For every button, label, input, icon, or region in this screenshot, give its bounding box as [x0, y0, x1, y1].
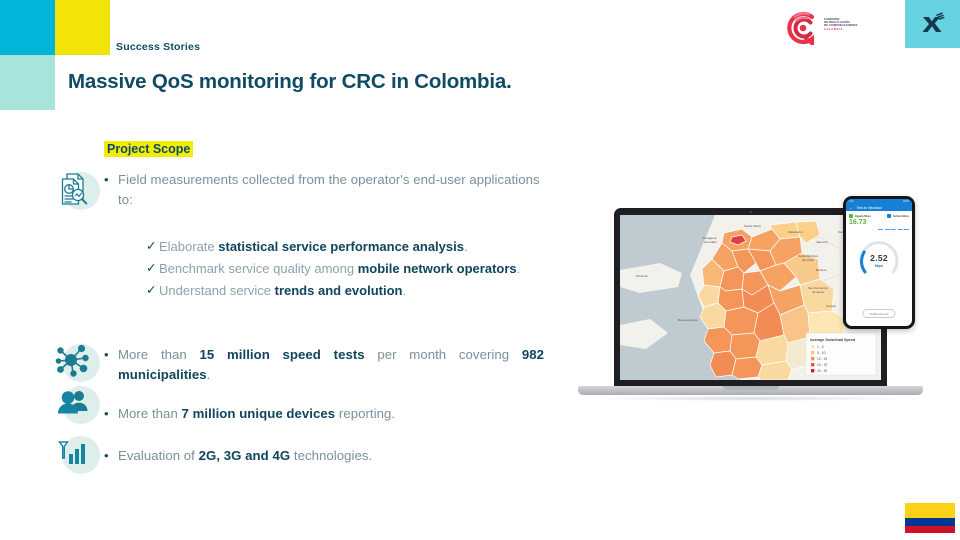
- gauge-value: 2.52: [858, 253, 900, 263]
- project-scope-heading: Project Scope: [104, 141, 193, 157]
- x-logo: [905, 0, 960, 48]
- crc-mark-icon: [786, 11, 820, 45]
- corner-block-yellow: [55, 0, 110, 55]
- x-logo-icon: [918, 9, 948, 39]
- svg-text:del Zulia: del Zulia: [802, 258, 814, 262]
- svg-text:Average Download Speed: Average Download Speed: [810, 338, 856, 342]
- users-icon: [54, 382, 96, 424]
- svg-text:20 - 30: 20 - 30: [817, 369, 827, 373]
- svg-text:5 - 10: 5 - 10: [817, 351, 826, 355]
- phone-kpi-row: Bajada Mbps Subida Mbps: [849, 214, 909, 218]
- phone-app-title: Test de Velocidad: [857, 206, 882, 210]
- stat-lead: Evaluation of: [118, 448, 199, 463]
- bullet-text: More than 7 million unique devices repor…: [118, 404, 544, 424]
- bullet-row: • Evaluation of 2G, 3G and 4G technologi…: [104, 446, 544, 466]
- stat-bold: 15 million speed tests: [200, 347, 365, 362]
- svg-text:10 - 15: 10 - 15: [817, 357, 827, 361]
- phone-app-bar: ← Test de Velocidad: [846, 204, 912, 211]
- svg-text:Barinas: Barinas: [816, 268, 827, 272]
- kpi-download-label: Bajada Mbps: [855, 215, 871, 218]
- svg-text:1 - 5: 1 - 5: [817, 345, 824, 349]
- kpi-upload: Subida Mbps: [887, 214, 909, 218]
- scope-check-list: ✓ Elaborate statistical service performa…: [146, 237, 546, 303]
- stat-bullet-unique-devices: • More than 7 million unique devices rep…: [104, 404, 544, 426]
- svg-text:Buenaventura: Buenaventura: [678, 318, 698, 322]
- svg-text:de Indias: de Indias: [704, 240, 717, 244]
- corner-block-cyan: [0, 0, 55, 55]
- svg-text:Maracaibo: Maracaibo: [788, 230, 803, 234]
- stat-mid: reporting: [335, 406, 391, 421]
- kpi-upload-label: Subida Mbps: [893, 215, 909, 218]
- corner-block-teal: [0, 55, 55, 110]
- upload-chip-icon: [887, 214, 891, 218]
- colombia-choropleth-map: Santa Marta Cartagena de Indias Maracaib…: [620, 215, 881, 380]
- bullet-row: • Field measurements collected from the …: [104, 170, 544, 209]
- scope-intro-bullet: • Field measurements collected from the …: [104, 170, 544, 211]
- flag-stripe-yellow: [905, 503, 955, 518]
- check-bold: statistical service performance analysis: [218, 239, 464, 254]
- crc-line-4: COLOMBIA: [824, 28, 858, 31]
- kpi-download: Bajada Mbps: [849, 214, 871, 218]
- stat-tail: .: [207, 367, 211, 382]
- check-text: Elaborate statistical service performanc…: [159, 237, 546, 256]
- bullet-text: More than 15 million speed tests per mon…: [118, 345, 544, 384]
- svg-text:Santa Marta: Santa Marta: [744, 224, 761, 228]
- stat-bullet-technologies: • Evaluation of 2G, 3G and 4G technologi…: [104, 446, 544, 468]
- status-time: 9:41: [849, 200, 854, 203]
- stat-lead: More than: [118, 406, 182, 421]
- download-chip-icon: [849, 214, 853, 218]
- bullet-dot: •: [104, 446, 118, 466]
- check-tail: .: [464, 239, 468, 254]
- svg-text:Arauca: Arauca: [826, 304, 836, 308]
- phone-screen: 9:41 100% ← Test de Velocidad Bajada Mbp…: [846, 199, 912, 326]
- stat-tail: .: [391, 406, 395, 421]
- svg-text:Panamá: Panamá: [636, 274, 648, 278]
- list-item: ✓ Elaborate statistical service performa…: [146, 237, 546, 256]
- slide-root: Success Stories Massive QoS monitoring f…: [0, 0, 960, 540]
- crc-logo: COMISIÓN DE REGULACIÓN DE COMUNICACIONES…: [786, 10, 886, 46]
- webcam-icon: [750, 211, 752, 213]
- check-icon: ✓: [146, 237, 159, 256]
- document-search-icon-wrap: [54, 168, 100, 214]
- retest-button[interactable]: Probar otra vez: [862, 309, 895, 318]
- status-battery: 100%: [903, 200, 909, 203]
- bullet-dot: •: [104, 170, 118, 209]
- check-text: Benchmark service quality among mobile n…: [159, 259, 546, 278]
- phone-app-body: Bajada Mbps Subida Mbps 16.73 2.52 Mbp: [846, 211, 912, 285]
- bullet-dot: •: [104, 345, 118, 384]
- crc-wordmark: COMISIÓN DE REGULACIÓN DE COMUNICACIONES…: [824, 18, 858, 31]
- check-bold: mobile network operators: [358, 261, 517, 276]
- kpi-download-value: 16.73: [849, 219, 909, 226]
- list-item: ✓ Understand service trends and evolutio…: [146, 281, 546, 300]
- bullet-dot: •: [104, 404, 118, 424]
- signal-bars-icon: [54, 432, 96, 474]
- stat-bullet-speed-tests: • More than 15 million speed tests per m…: [104, 345, 544, 386]
- svg-text:15 - 20: 15 - 20: [817, 363, 827, 367]
- flag-stripe-red: [905, 526, 955, 534]
- signal-bars-icon-wrap: [54, 432, 100, 478]
- bullet-text: Field measurements collected from the op…: [118, 170, 544, 209]
- colombia-flag: [905, 503, 955, 533]
- stat-mid: technologies: [290, 448, 368, 463]
- stat-tail: .: [369, 448, 373, 463]
- bullet-row: • More than 7 million unique devices rep…: [104, 404, 544, 424]
- bullet-row: • More than 15 million speed tests per m…: [104, 345, 544, 384]
- smartphone-device: 9:41 100% ← Test de Velocidad Bajada Mbp…: [843, 196, 915, 329]
- crc-line-3: DE COMUNICACIONES: [824, 24, 858, 27]
- check-text: Understand service trends and evolution.: [159, 281, 546, 300]
- check-bold: trends and evolution: [275, 283, 403, 298]
- check-lead: Understand service: [159, 283, 275, 298]
- speed-gauge: 2.52 Mbps: [858, 240, 900, 282]
- back-arrow-icon[interactable]: ←: [849, 206, 853, 210]
- gauge-unit: Mbps: [858, 264, 900, 268]
- check-tail: .: [517, 261, 521, 276]
- map-legend: Average Download Speed 1 - 5 5 - 10 10 -…: [806, 333, 876, 375]
- eyebrow-label: Success Stories: [116, 41, 200, 53]
- bullet-text: Evaluation of 2G, 3G and 4G technologies…: [118, 446, 544, 466]
- check-tail: .: [402, 283, 406, 298]
- check-icon: ✓: [146, 281, 159, 300]
- stat-mid: per month covering: [365, 347, 522, 362]
- users-icon-wrap: [54, 382, 100, 428]
- stat-bold: 2G, 3G and 4G: [199, 448, 291, 463]
- stat-lead: More than: [118, 347, 200, 362]
- check-lead: Elaborate: [159, 239, 218, 254]
- laptop-shadow: [590, 396, 910, 401]
- laptop-notch: [723, 386, 779, 390]
- laptop-screen: Santa Marta Cartagena de Indias Maracaib…: [620, 215, 881, 380]
- page-title: Massive QoS monitoring for CRC in Colomb…: [68, 70, 512, 94]
- network-nodes-icon-wrap: [54, 340, 100, 386]
- network-nodes-icon: [54, 340, 96, 382]
- stat-bold: 7 million unique devices: [182, 406, 336, 421]
- upload-tick-marks: [849, 229, 909, 230]
- check-icon: ✓: [146, 259, 159, 278]
- check-lead: Benchmark service quality among: [159, 261, 358, 276]
- list-item: ✓ Benchmark service quality among mobile…: [146, 259, 546, 278]
- svg-text:de Apure: de Apure: [812, 290, 825, 294]
- flag-stripe-blue: [905, 518, 955, 526]
- document-search-icon: [54, 168, 96, 210]
- svg-text:Valencia: Valencia: [816, 240, 828, 244]
